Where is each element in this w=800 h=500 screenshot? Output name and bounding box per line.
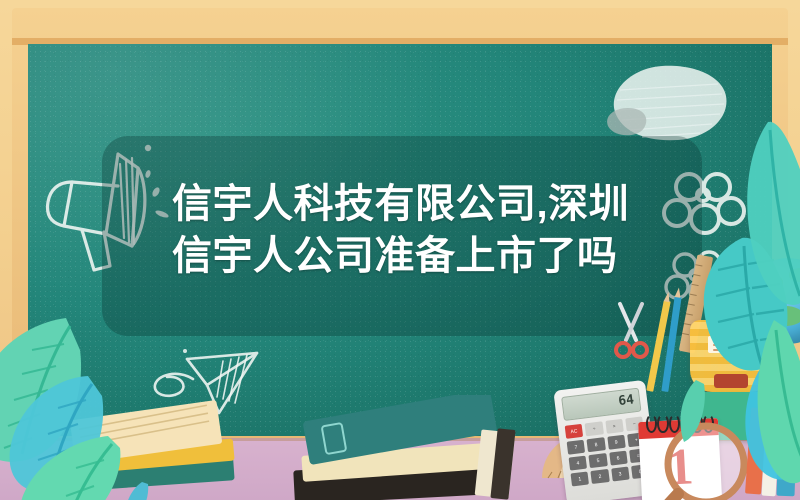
calculator-key: 2 — [591, 469, 610, 484]
calculator-key: AC — [565, 424, 584, 439]
page-title: 信宇人科技有限公司,深圳信宇人公司准备上市了吗 — [172, 178, 692, 282]
calculator-key: 7 — [567, 440, 586, 455]
calculator-key: × — [605, 419, 624, 434]
scissors — [612, 300, 652, 365]
pouch-zipper — [714, 374, 748, 388]
headline-line-2: 信宇人公司准备上市了吗 — [172, 234, 618, 278]
notebook-stack-right — [744, 400, 800, 500]
magnifying-glass — [648, 418, 758, 500]
headline-line-1: 信宇人科技有限公司,深圳 — [172, 182, 629, 226]
calculator-key: 4 — [569, 456, 588, 471]
pencil-pouch — [690, 320, 772, 392]
book-stack-left — [58, 400, 248, 500]
calculator-key: 9 — [607, 435, 626, 450]
book-stack-center — [280, 395, 530, 500]
calculator-key: 3 — [611, 467, 630, 482]
pouch-label — [708, 336, 752, 353]
calculator-display: 64 — [561, 388, 641, 421]
calculator-key: 5 — [589, 453, 608, 468]
calculator-key: ÷ — [585, 421, 604, 436]
calculator-key: 8 — [587, 437, 606, 452]
calculator-key: 6 — [609, 451, 628, 466]
calculator-keypad: AC ÷ × − 7 8 9 + 4 5 6 = 1 2 3 0 — [565, 416, 650, 486]
calculator-key: 1 — [571, 471, 590, 486]
banner-image: 信宇人科技有限公司,深圳信宇人公司准备上市了吗 — [0, 0, 800, 500]
